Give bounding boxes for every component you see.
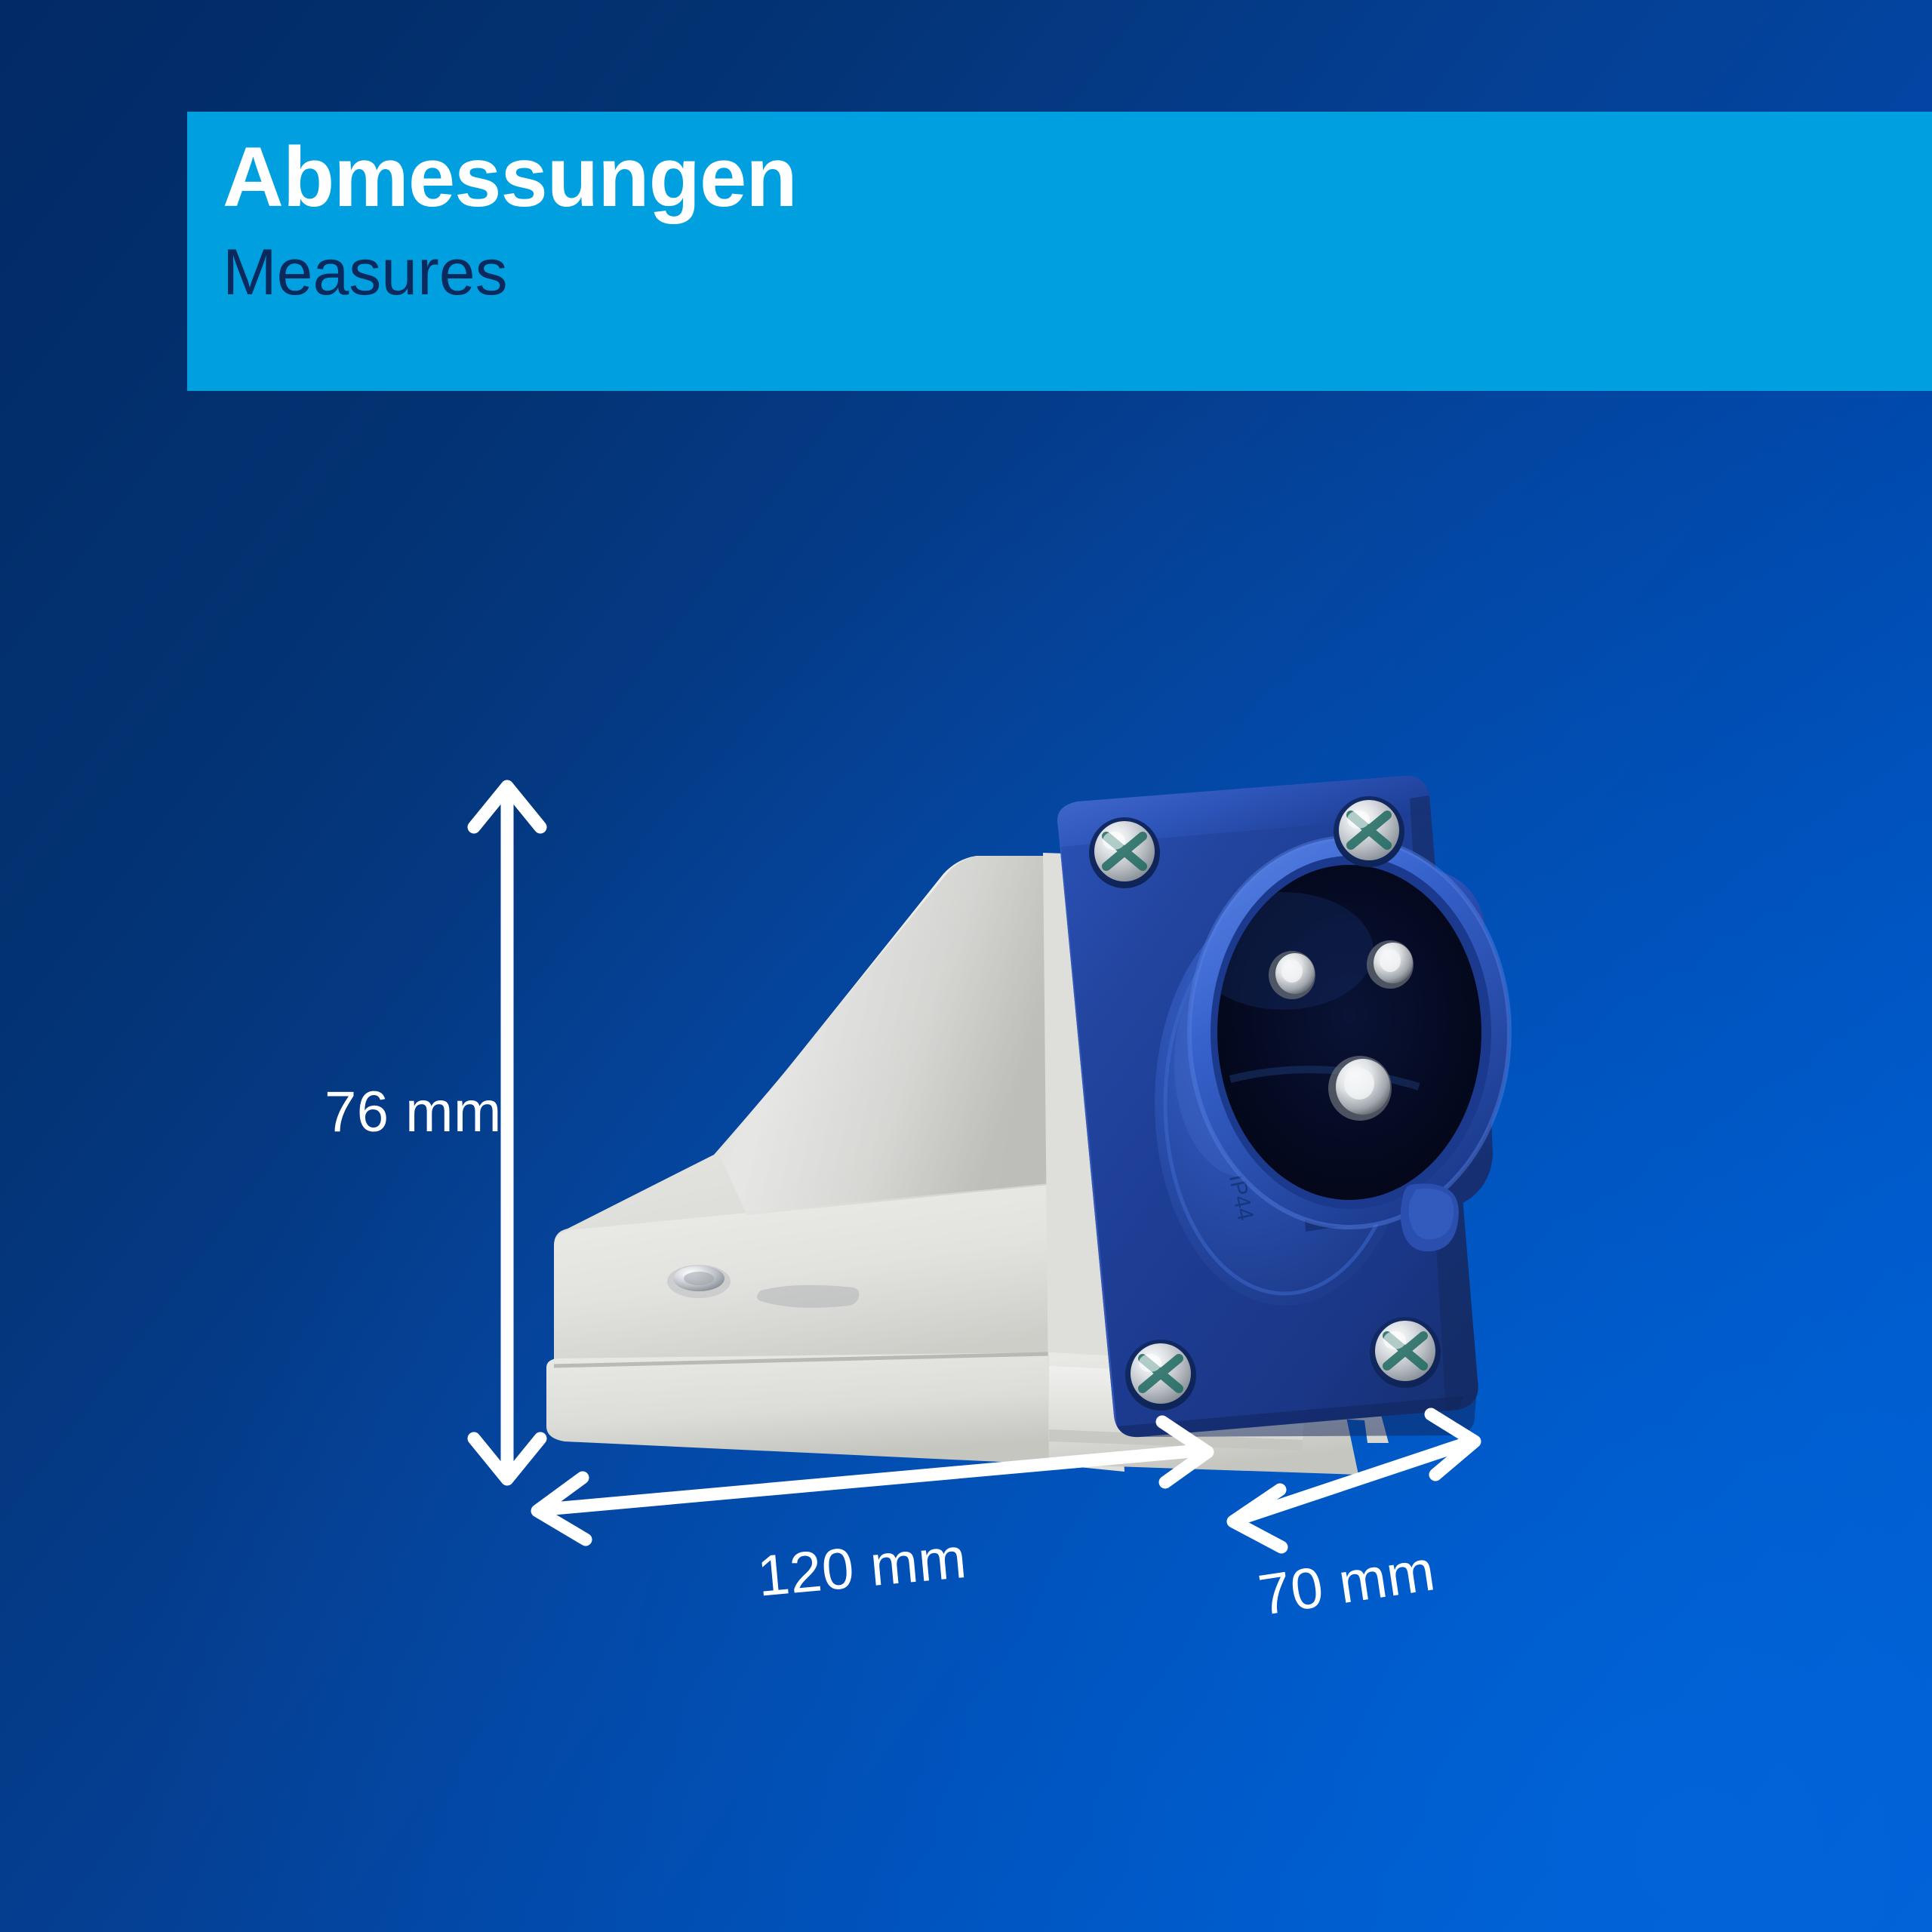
product-base-block xyxy=(546,1352,1049,1464)
flange-screw-bottom-right xyxy=(1370,1317,1441,1388)
product-grey-housing xyxy=(546,856,1049,1464)
header-banner: Abmessungen Measures xyxy=(187,112,1932,391)
product-dimension-graphic: Abmessungen Measures xyxy=(0,0,1932,1932)
page-subtitle: Measures xyxy=(223,238,508,306)
depth-dimension-label: 70 mm xyxy=(1254,1537,1439,1629)
flange-screw-top-right xyxy=(1334,796,1404,867)
width-dimension-label: 120 mm xyxy=(755,1525,969,1610)
product-photo: PCE 16A 6h/220-250V -50+60°C CE IP44 MAD… xyxy=(521,762,1592,1509)
flange-screw-bottom-left xyxy=(1125,1340,1196,1411)
page-title: Abmessungen xyxy=(223,133,797,222)
flange-screw-top-left xyxy=(1089,817,1160,888)
height-dimension-label: 76 mm xyxy=(325,1079,502,1145)
